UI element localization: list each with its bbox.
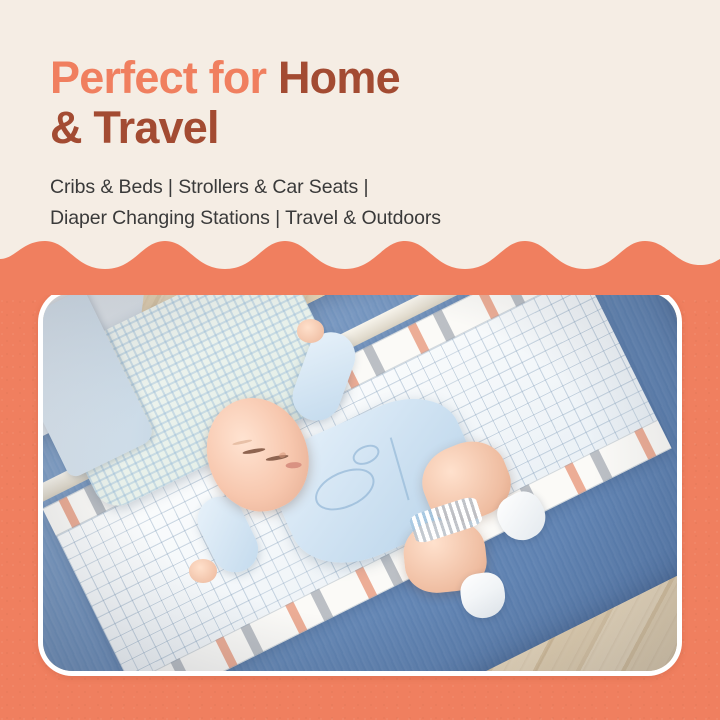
headline-accent-text: Perfect for: [50, 52, 278, 103]
baby-hand-upper: [297, 319, 325, 342]
onesie-motif-small: [350, 441, 382, 468]
baby-hand-lower: [189, 559, 217, 582]
baby-eye-left: [242, 447, 265, 455]
product-photo: [43, 293, 677, 671]
baby-brow: [232, 439, 252, 446]
subtitle-line-1: Cribs & Beds | Strollers & Car Seats |: [50, 172, 690, 203]
product-feature-banner: Perfect for Home & Travel Cribs & Beds |…: [0, 0, 720, 720]
headline-dark-text-line1: Home: [278, 52, 400, 103]
wavy-divider-icon: [0, 225, 720, 295]
product-photo-card: [38, 288, 682, 676]
onesie-seam: [389, 437, 409, 500]
onesie-motif: [308, 460, 380, 519]
headline-dark-text-line2: & Travel: [50, 102, 219, 153]
baby-mouth: [286, 462, 302, 469]
baby-arm-upper: [286, 325, 362, 427]
baby-sock-lower: [458, 570, 508, 621]
page-title: Perfect for Home & Travel: [50, 53, 670, 154]
sleeping-baby: [43, 293, 677, 671]
